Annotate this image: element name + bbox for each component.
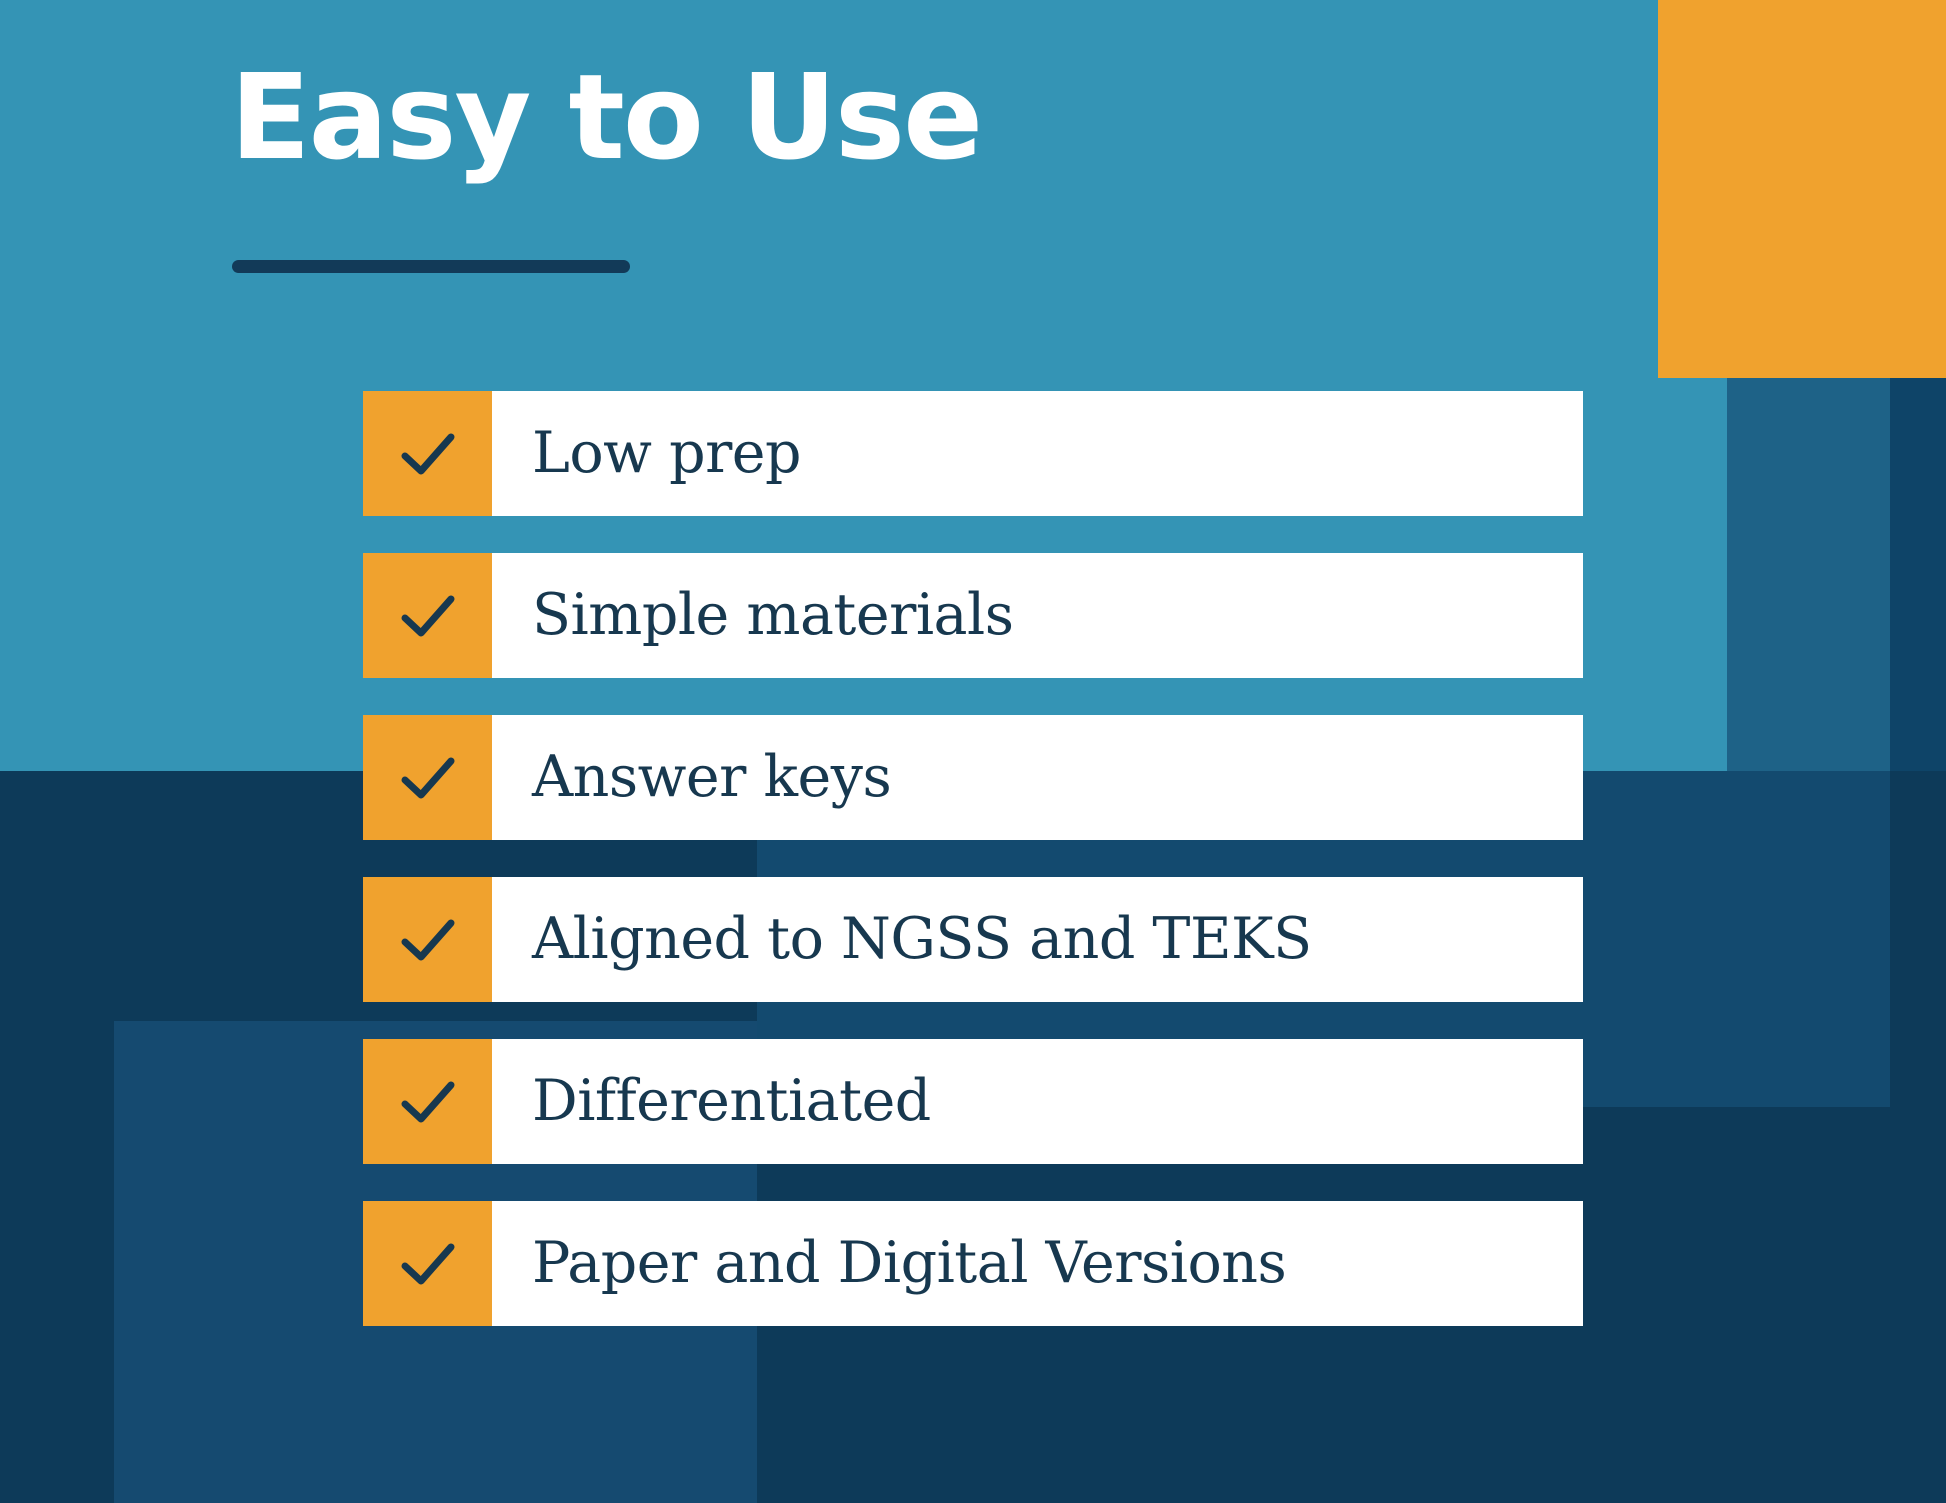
title-underline-rule	[232, 260, 630, 273]
check-icon	[397, 909, 459, 971]
list-item: Answer keys	[363, 715, 1583, 840]
list-item-label: Differentiated	[492, 1039, 1583, 1164]
background-block-right-mid	[1727, 378, 1890, 771]
checklist: Low prep Simple materials Answer keys	[363, 391, 1583, 1326]
check-icon	[397, 423, 459, 485]
list-item-label: Low prep	[492, 391, 1583, 516]
check-badge	[363, 553, 492, 678]
list-item: Aligned to NGSS and TEKS	[363, 877, 1583, 1002]
check-badge	[363, 391, 492, 516]
check-icon	[397, 585, 459, 647]
background-block-right-dark	[1890, 378, 1946, 771]
list-item: Low prep	[363, 391, 1583, 516]
check-badge	[363, 1039, 492, 1164]
page-title: Easy to Use	[230, 58, 981, 176]
check-icon	[397, 747, 459, 809]
poster-canvas: Easy to Use Low prep Simple materials	[0, 0, 1946, 1503]
title-block: Easy to Use	[230, 58, 981, 176]
check-icon	[397, 1233, 459, 1295]
list-item-label: Paper and Digital Versions	[492, 1201, 1583, 1326]
list-item-label: Simple materials	[492, 553, 1583, 678]
check-badge	[363, 1201, 492, 1326]
list-item: Simple materials	[363, 553, 1583, 678]
background-block-orange-top-right	[1658, 0, 1946, 378]
check-badge	[363, 877, 492, 1002]
list-item-label: Answer keys	[492, 715, 1583, 840]
check-icon	[397, 1071, 459, 1133]
list-item: Differentiated	[363, 1039, 1583, 1164]
check-badge	[363, 715, 492, 840]
list-item-label: Aligned to NGSS and TEKS	[492, 877, 1583, 1002]
list-item: Paper and Digital Versions	[363, 1201, 1583, 1326]
